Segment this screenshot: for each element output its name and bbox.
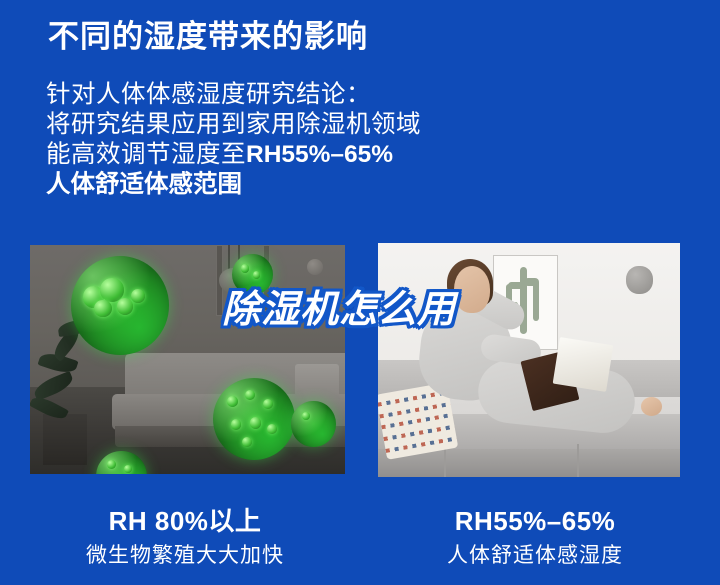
right-photo-person-foot [641,397,662,416]
left-photo-plant-pot [43,414,87,464]
caption-left-sub: 微生物繁殖大大加快 [20,541,350,571]
caption-right: RH55%–65% 人体舒适体感湿度 [370,505,700,571]
caption-right-sub: 人体舒适体感湿度 [370,541,700,571]
right-photo-sofa-base [378,449,680,477]
overlay-word-art: 除湿机怎么用 [222,278,456,333]
microbe-sphere [291,401,335,447]
right-photo-person-head [454,266,490,313]
left-photo-cushion [295,364,339,401]
right-photo-book-page [553,337,614,392]
microbe-sphere [71,256,169,354]
left-photo-wall-knob [307,259,323,275]
caption-right-main: RH55%–65% [370,505,700,537]
caption-left: RH 80%以上 微生物繁殖大大加快 [20,505,350,571]
caption-left-main: RH 80%以上 [20,505,350,537]
microbe-sphere [213,378,295,460]
right-photo-sofa-seam [577,444,579,477]
poster-root: 不同的湿度带来的影响 针对人体体感湿度研究结论： 将研究结果应用到家用除湿机领域… [0,0,720,585]
right-photo-wall-knob [626,266,653,294]
